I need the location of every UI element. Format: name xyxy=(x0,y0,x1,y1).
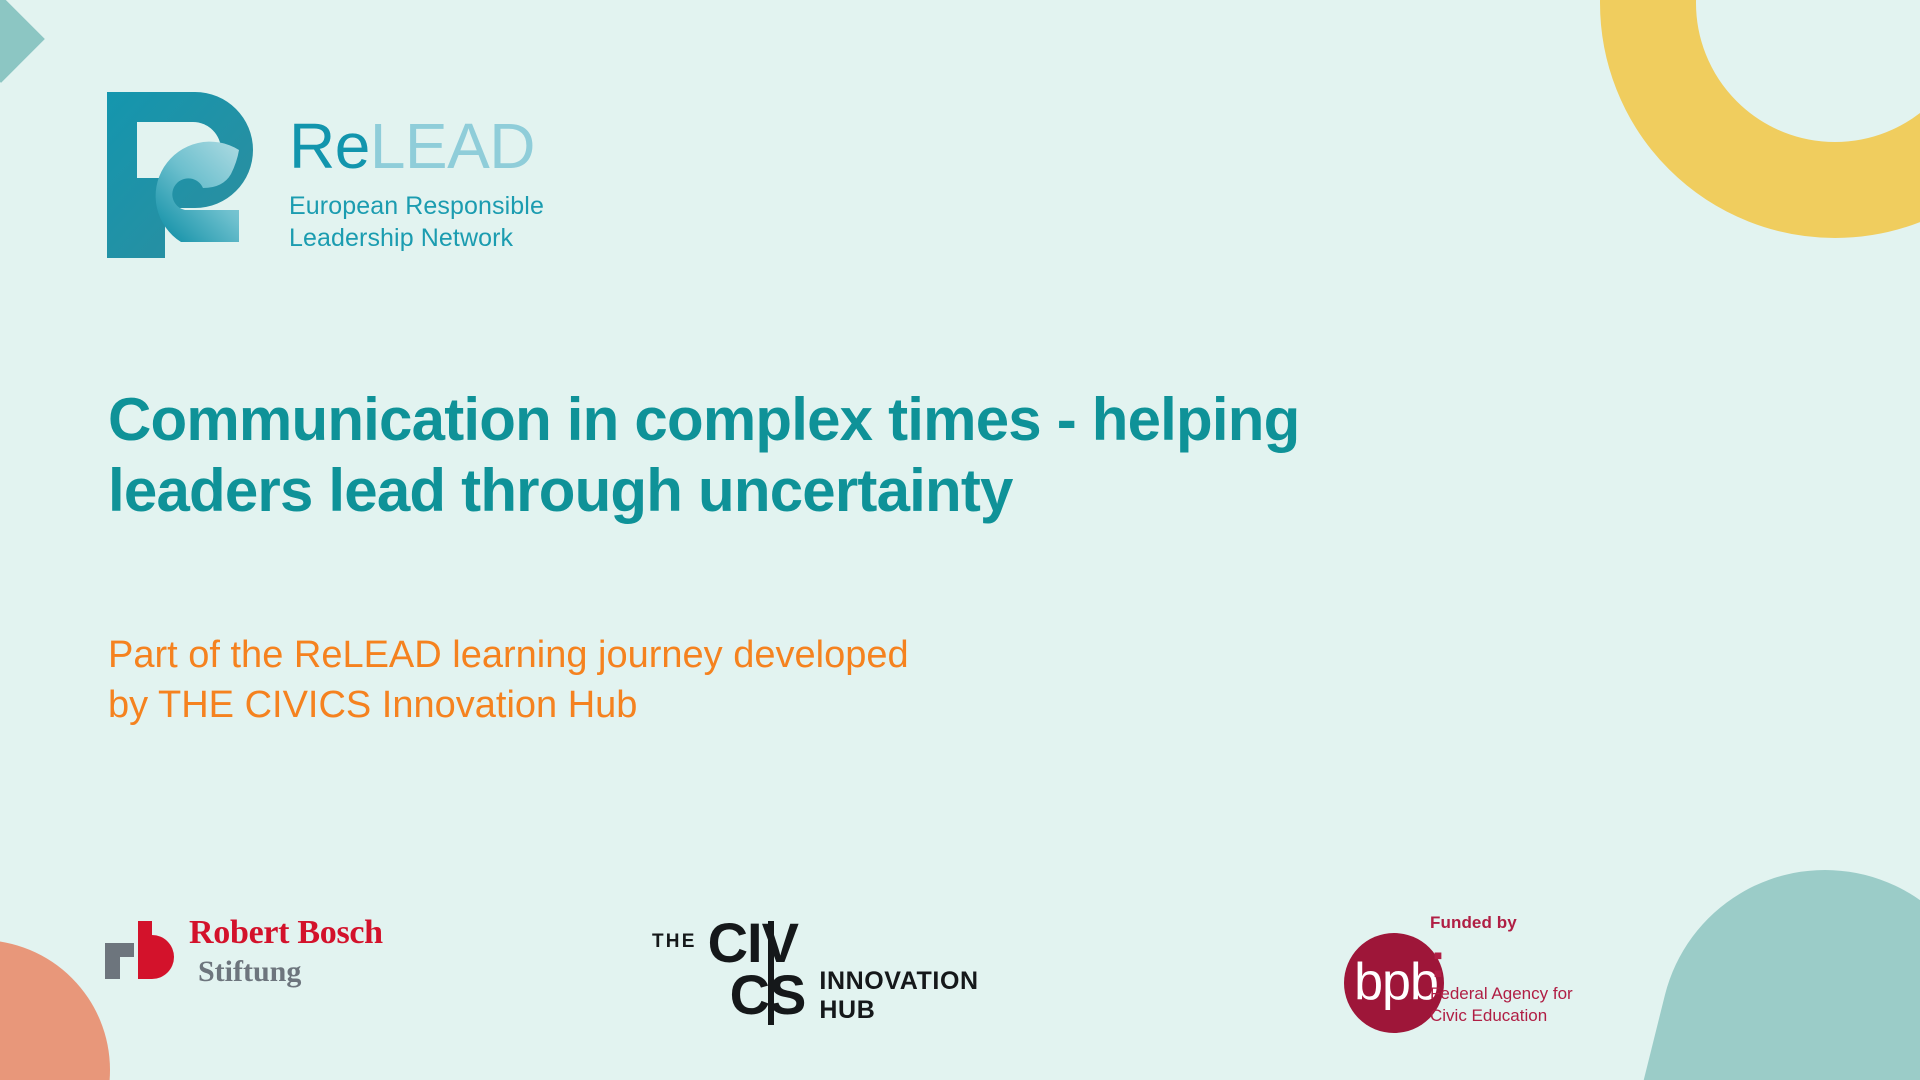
bpb-agency-line-1: Federal Agency for xyxy=(1430,983,1573,1005)
civics-tail-block: INNOVATION HUB xyxy=(819,967,978,1024)
yellow-ring-decoration xyxy=(1600,0,1920,238)
bosch-line-1: Robert Bosch xyxy=(189,915,383,951)
tagline-line-2: Leadership Network xyxy=(289,222,544,254)
bosch-line-2: Stiftung xyxy=(198,955,383,990)
civics-vertical-bar-icon xyxy=(768,921,774,1025)
the-civics-innovation-hub-logo: THE CIV CS INNOVATION HUB xyxy=(652,917,979,1024)
wordmark-lead: LEAD xyxy=(370,110,535,182)
civics-the-label: THE xyxy=(652,931,697,953)
wordmark-re: Re xyxy=(289,110,370,182)
slide-subtitle-line-2: by THE CIVICS Innovation Hub xyxy=(108,680,1308,730)
slide-title-line-2: leaders lead through uncertainty xyxy=(108,456,1608,527)
civics-stack-line-1: CIV xyxy=(708,917,806,969)
slide-subtitle-line-1: Part of the ReLEAD learning journey deve… xyxy=(108,630,1308,680)
slide-subtitle: Part of the ReLEAD learning journey deve… xyxy=(108,630,1308,730)
relead-wordmark: ReLEAD xyxy=(289,114,544,178)
robert-bosch-mark-icon xyxy=(105,921,177,979)
tagline-line-1: European Responsible xyxy=(289,190,544,222)
bpb-agency-name: Federal Agency for Civic Education xyxy=(1430,983,1573,1028)
relead-tagline: European Responsible Leadership Network xyxy=(289,190,544,254)
slide-title-line-1: Communication in complex times - helping xyxy=(108,385,1608,456)
bpb-colon-glyph: : xyxy=(1430,947,1573,977)
bpb-funding-logo: bpb Funded by : Federal Agency for Civic… xyxy=(1344,905,1573,1033)
relead-logo-icon xyxy=(107,92,253,258)
bpb-text-block: Funded by : Federal Agency for Civic Edu… xyxy=(1426,905,1573,1028)
bpb-funded-by-label: Funded by xyxy=(1430,913,1573,933)
bpb-agency-line-2: Civic Education xyxy=(1430,1005,1573,1027)
civics-tail-line-2: HUB xyxy=(819,996,978,1025)
civics-stack: CIV CS xyxy=(708,917,806,1020)
presentation-slide: ReLEAD European Responsible Leadership N… xyxy=(0,0,1920,1080)
relead-wordmark-block: ReLEAD European Responsible Leadership N… xyxy=(289,92,544,254)
teal-notch-decoration xyxy=(0,0,45,83)
slide-title: Communication in complex times - helping… xyxy=(108,385,1608,527)
footer-logo-row: Robert Bosch Stiftung THE CIV CS INNOVAT… xyxy=(0,905,1920,1055)
robert-bosch-wordmark: Robert Bosch Stiftung xyxy=(189,915,383,989)
robert-bosch-stiftung-logo: Robert Bosch Stiftung xyxy=(105,915,383,989)
civics-tail-line-1: INNOVATION xyxy=(819,967,978,996)
relead-brand-lockup: ReLEAD European Responsible Leadership N… xyxy=(107,92,544,258)
